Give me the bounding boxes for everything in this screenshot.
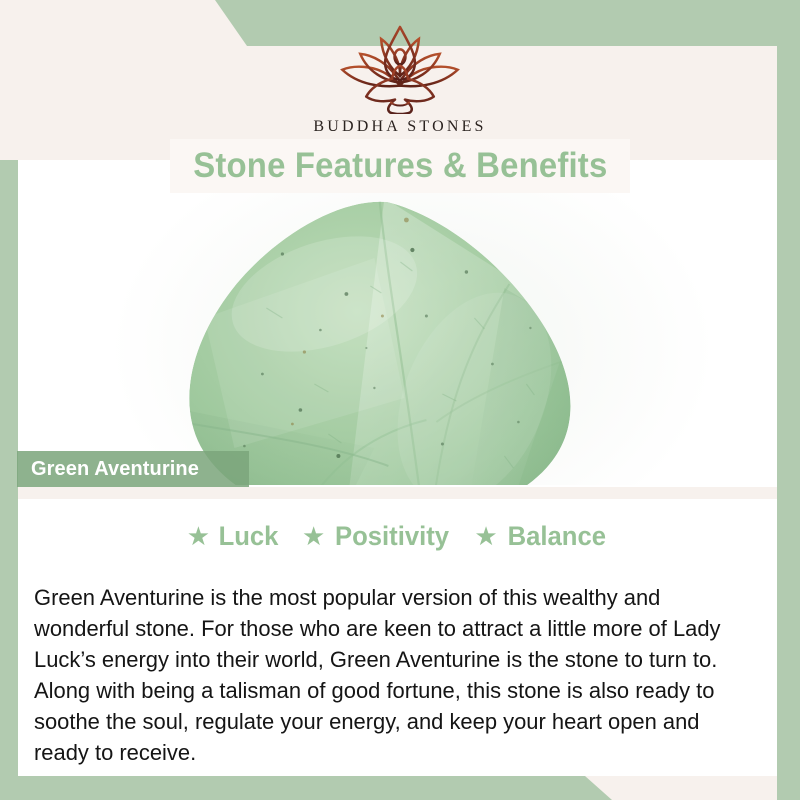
stone-name-label: Green Aventurine <box>17 451 249 487</box>
benefit-label-positivity: Positivity <box>335 521 449 552</box>
benefit-item-balance: ★ Balance <box>474 521 608 552</box>
benefit-label-luck: Luck <box>219 521 279 552</box>
stone-name-text: Green Aventurine <box>17 458 199 481</box>
benefit-item-luck: ★ Luck <box>187 521 280 552</box>
photo-divider <box>18 487 777 499</box>
brand-name: BUDDHA STONES <box>313 118 486 136</box>
star-icon: ★ <box>187 523 210 549</box>
benefit-item-positivity: ★ Positivity <box>302 521 452 552</box>
lotus-meditation-icon <box>325 22 475 114</box>
green-aventurine-stone-image <box>174 198 604 485</box>
stone-description: Green Aventurine is the most popular ver… <box>34 582 757 768</box>
benefit-label-balance: Balance <box>507 521 605 552</box>
benefits-row: ★ Luck ★ Positivity ★ Balance <box>18 516 777 556</box>
stone-photo <box>18 160 777 485</box>
star-icon: ★ <box>474 523 497 549</box>
title-ribbon: Stone Features & Benefits <box>170 139 630 193</box>
brand-header: BUDDHA STONES <box>0 0 800 148</box>
frame-band-left <box>0 160 18 800</box>
star-icon: ★ <box>302 523 325 549</box>
stone-benefits-infographic: BUDDHA STONES Stone Features & Benefits <box>0 0 800 800</box>
page-title: Stone Features & Benefits <box>193 146 607 186</box>
